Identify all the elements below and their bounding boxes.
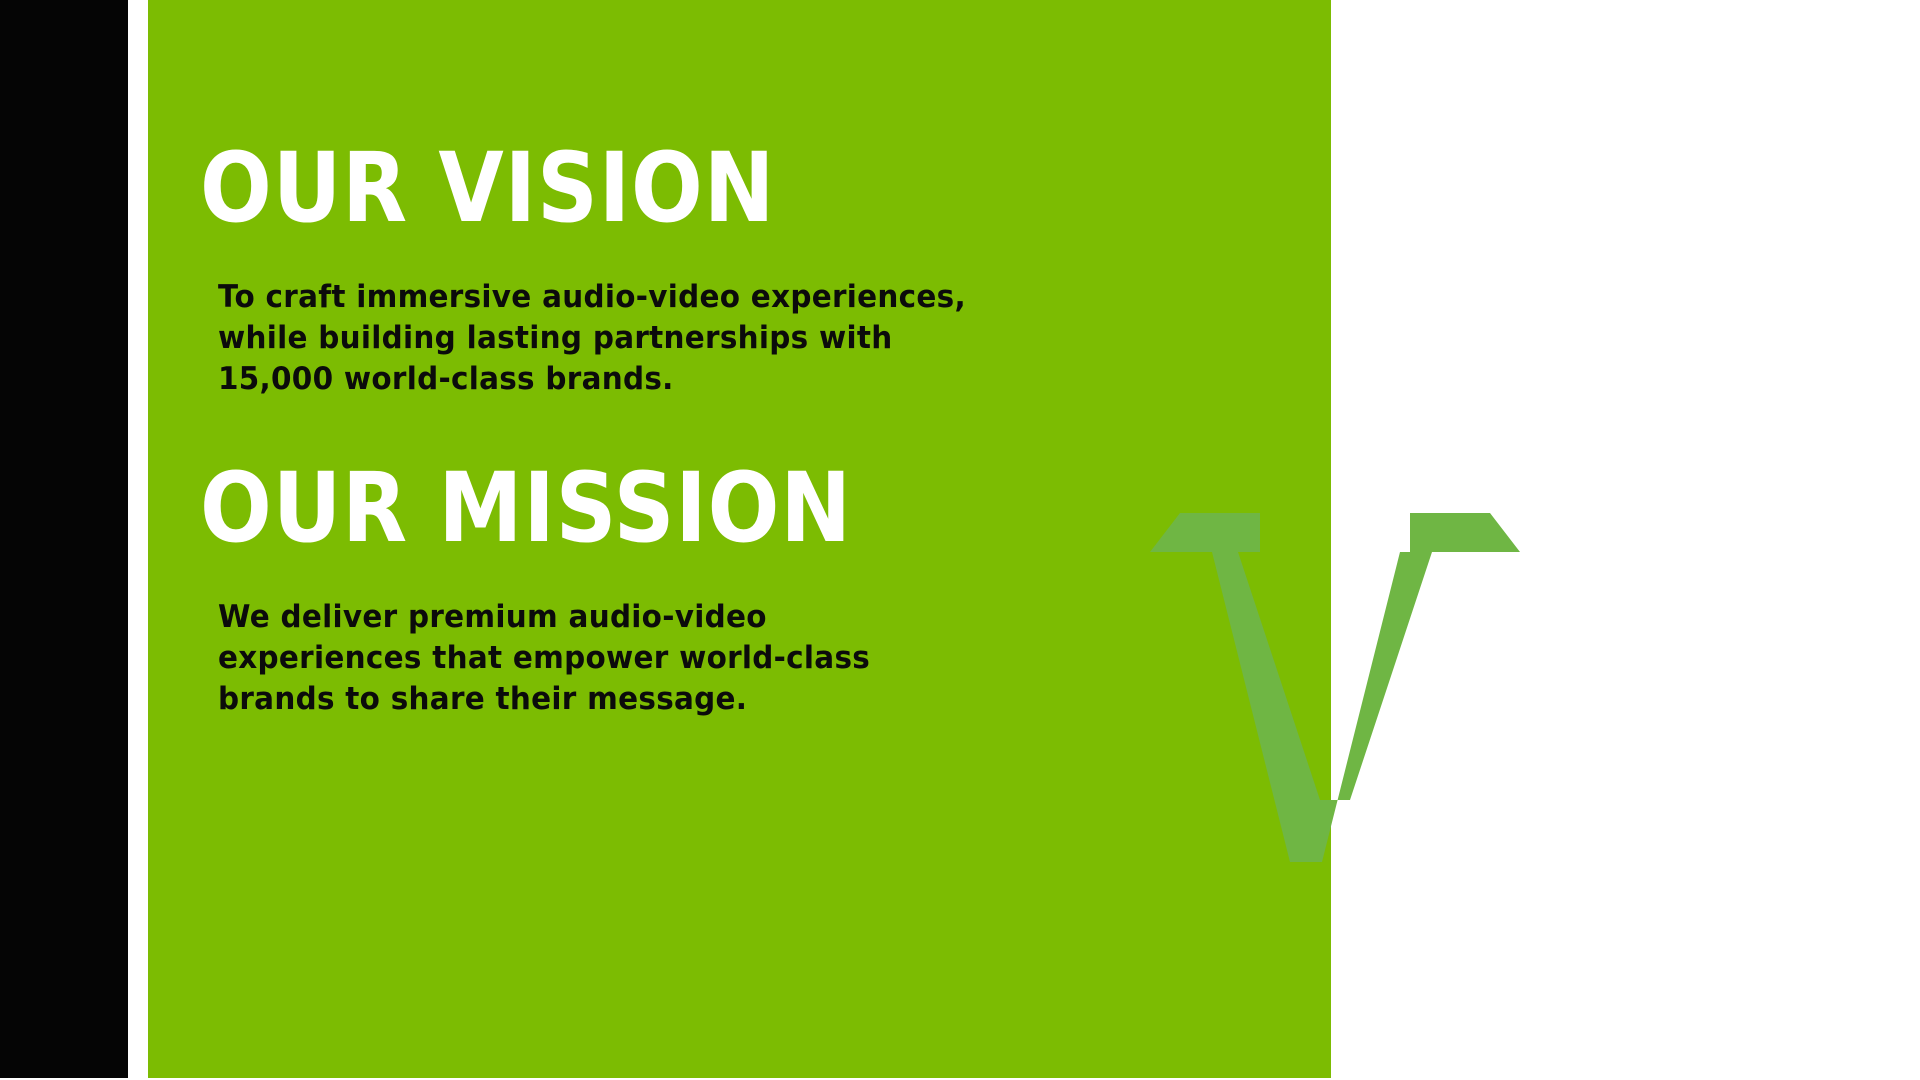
left-black-band bbox=[0, 0, 128, 1080]
white-gutter bbox=[128, 0, 148, 1080]
slide-canvas: OUR VISION To craft immersive audio-vide… bbox=[0, 0, 1920, 1080]
letter-v-logo-icon bbox=[1150, 510, 1520, 865]
vision-body-text: To craft immersive audio-video experienc… bbox=[218, 277, 978, 400]
vision-heading: OUR VISION bbox=[200, 140, 775, 236]
mission-heading: OUR MISSION bbox=[200, 460, 852, 556]
mission-body-text: We deliver premium audio-video experienc… bbox=[218, 597, 978, 720]
